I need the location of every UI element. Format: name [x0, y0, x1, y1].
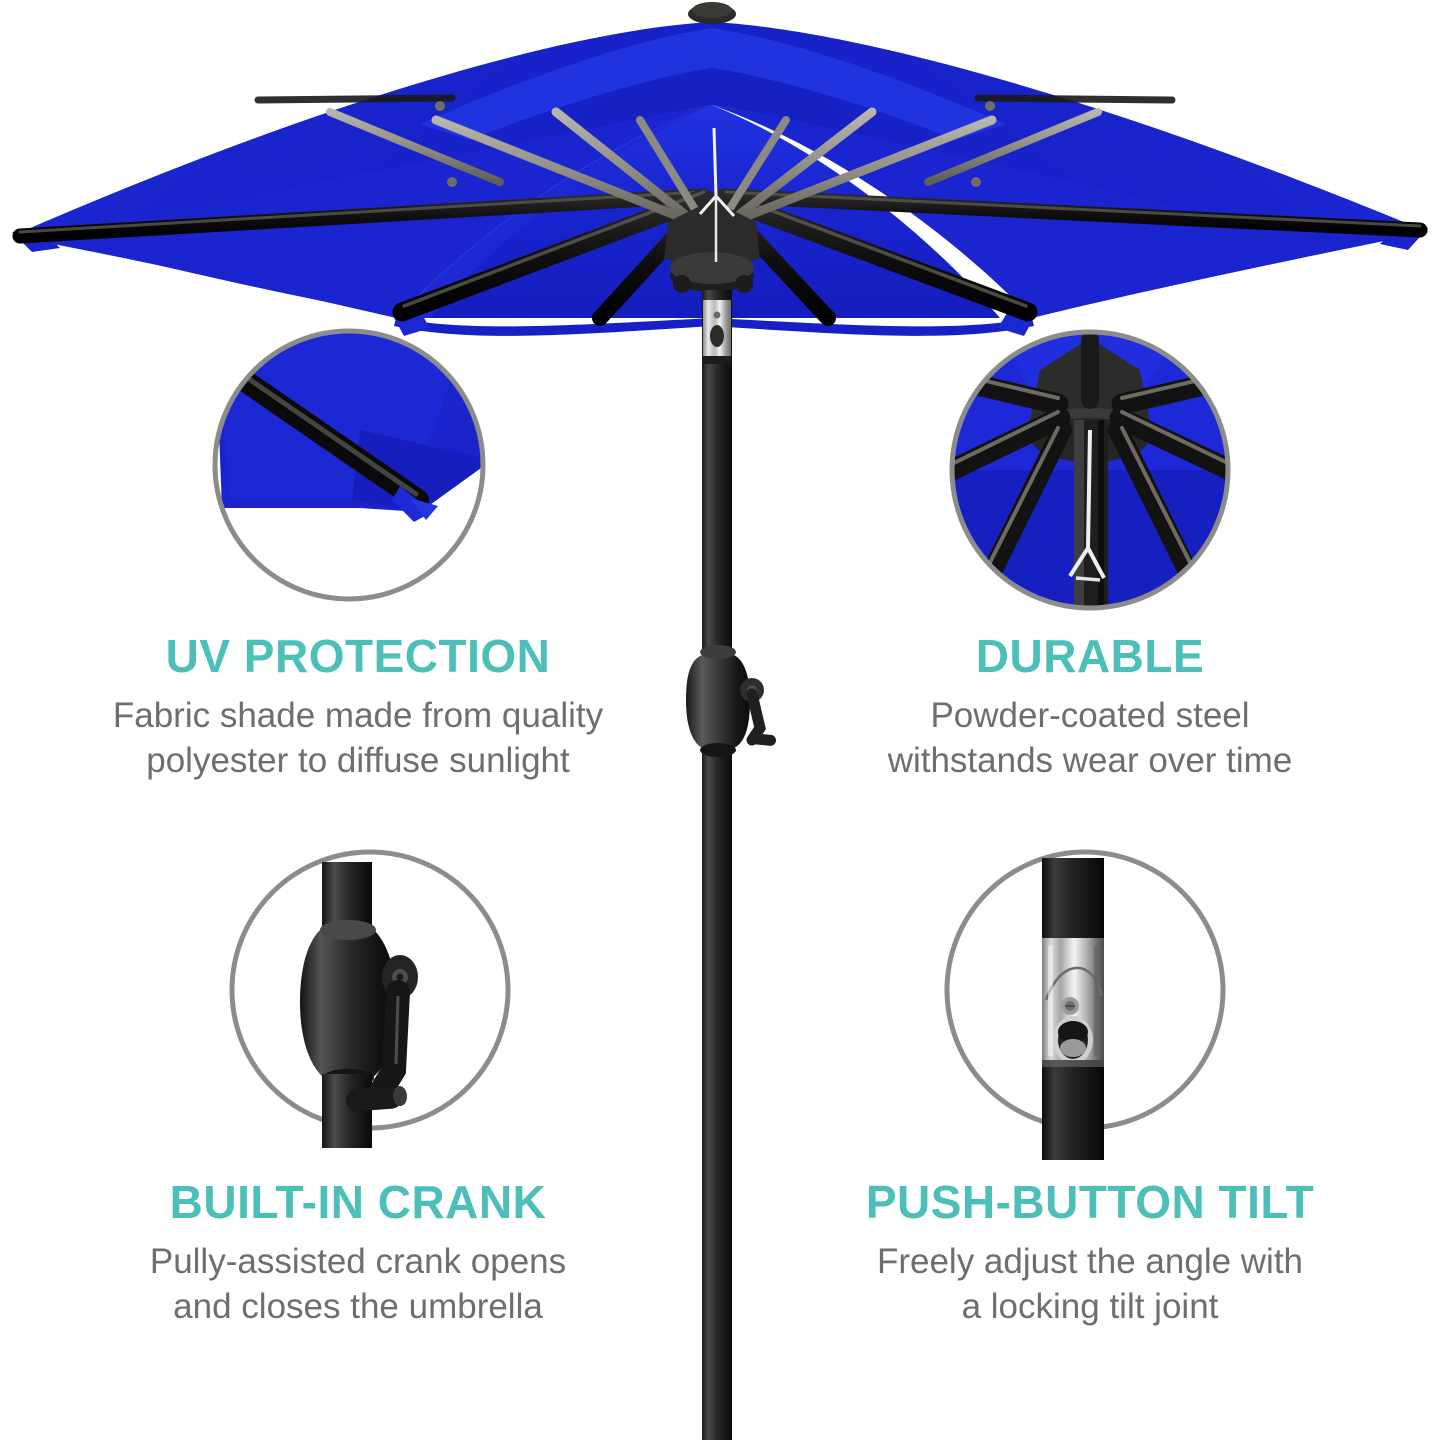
feature-description: Fabric shade made from quality polyester… — [28, 694, 688, 784]
feature-uv-protection: UV PROTECTION Fabric shade made from qua… — [28, 632, 688, 784]
feature-description-line-1: Powder-coated steel — [760, 694, 1420, 739]
feature-description-line-2: withstands wear over time — [760, 739, 1420, 784]
feature-description-line-1: Freely adjust the angle with — [760, 1240, 1420, 1285]
feature-heading: DURABLE — [760, 632, 1420, 680]
feature-description: Freely adjust the angle with a locking t… — [760, 1240, 1420, 1330]
feature-durable: DURABLE Powder-coated steel withstands w… — [760, 632, 1420, 784]
feature-description: Pully-assisted crank opens and closes th… — [28, 1240, 688, 1330]
feature-push-button-tilt: PUSH-BUTTON TILT Freely adjust the angle… — [760, 1178, 1420, 1330]
product-infographic: UV PROTECTION Fabric shade made from qua… — [0, 0, 1440, 1440]
feature-description-line-2: a locking tilt joint — [760, 1285, 1420, 1330]
feature-description-line-1: Fabric shade made from quality — [28, 694, 688, 739]
feature-description-line-2: and closes the umbrella — [28, 1285, 688, 1330]
feature-heading: PUSH-BUTTON TILT — [760, 1178, 1420, 1226]
feature-description-line-1: Pully-assisted crank opens — [28, 1240, 688, 1285]
tilt-joint-detail-image — [1042, 858, 1104, 1160]
feature-built-in-crank: BUILT-IN CRANK Pully-assisted crank open… — [28, 1178, 688, 1330]
feature-heading: UV PROTECTION — [28, 632, 688, 680]
feature-heading: BUILT-IN CRANK — [28, 1178, 688, 1226]
feature-description-line-2: polyester to diffuse sunlight — [28, 739, 688, 784]
feature-description: Powder-coated steel withstands wear over… — [760, 694, 1420, 784]
